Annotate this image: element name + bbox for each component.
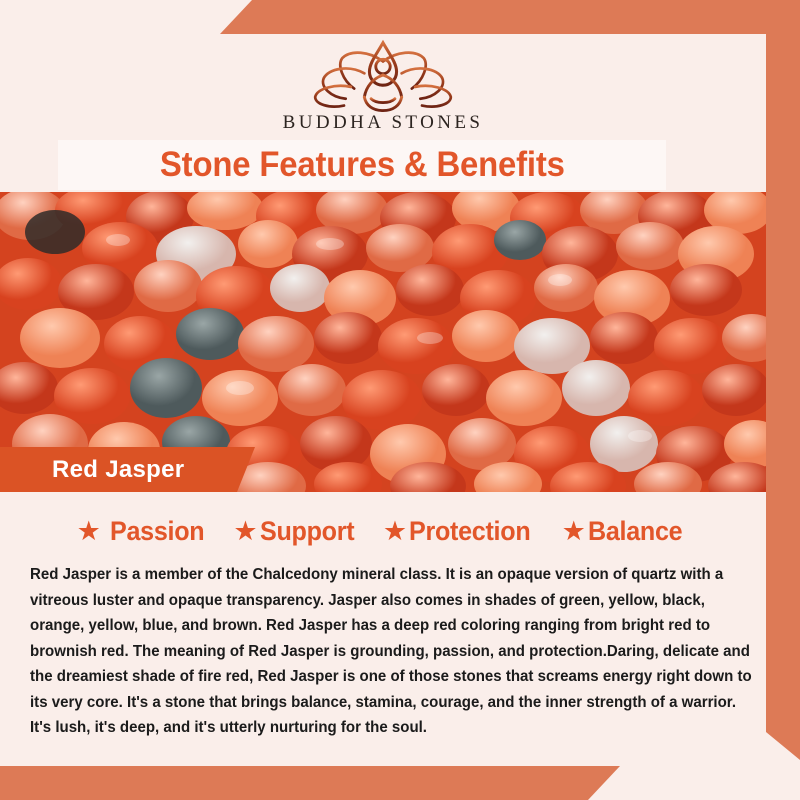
frame-top-bar	[220, 0, 800, 34]
benefit-item-support: ★ Support	[233, 516, 361, 547]
stone-info-card: BUDDHA STONES Stone Features & Benefits	[0, 0, 800, 800]
star-icon: ★	[562, 518, 586, 545]
page-title: Stone Features & Benefits	[160, 145, 565, 185]
title-banner: Stone Features & Benefits	[58, 140, 666, 190]
frame-right-bar	[766, 0, 800, 760]
benefit-label: Support	[260, 516, 354, 547]
benefit-item-passion: ★ Passion	[77, 516, 212, 547]
benefit-label: Passion	[110, 516, 204, 547]
benefit-label: Protection	[409, 516, 530, 547]
stone-name: Red Jasper	[0, 456, 184, 484]
star-icon: ★	[383, 518, 407, 545]
stone-description: Red Jasper is a member of the Chalcedony…	[30, 562, 752, 741]
star-icon: ★	[233, 518, 257, 545]
benefits-row: ★ Passion ★ Support ★ Protection ★ Balan…	[0, 516, 766, 547]
stone-name-banner: Red Jasper	[0, 447, 255, 492]
benefit-label: Balance	[588, 516, 682, 547]
star-icon: ★	[77, 518, 101, 545]
brand-name: BUDDHA STONES	[283, 112, 484, 134]
lotus-meditation-icon	[298, 36, 468, 114]
brand-logo: BUDDHA STONES	[0, 34, 766, 140]
benefit-item-balance: ★ Balance	[562, 516, 690, 547]
benefit-item-protection: ★ Protection	[383, 516, 540, 547]
frame-bottom-bar	[0, 766, 620, 800]
